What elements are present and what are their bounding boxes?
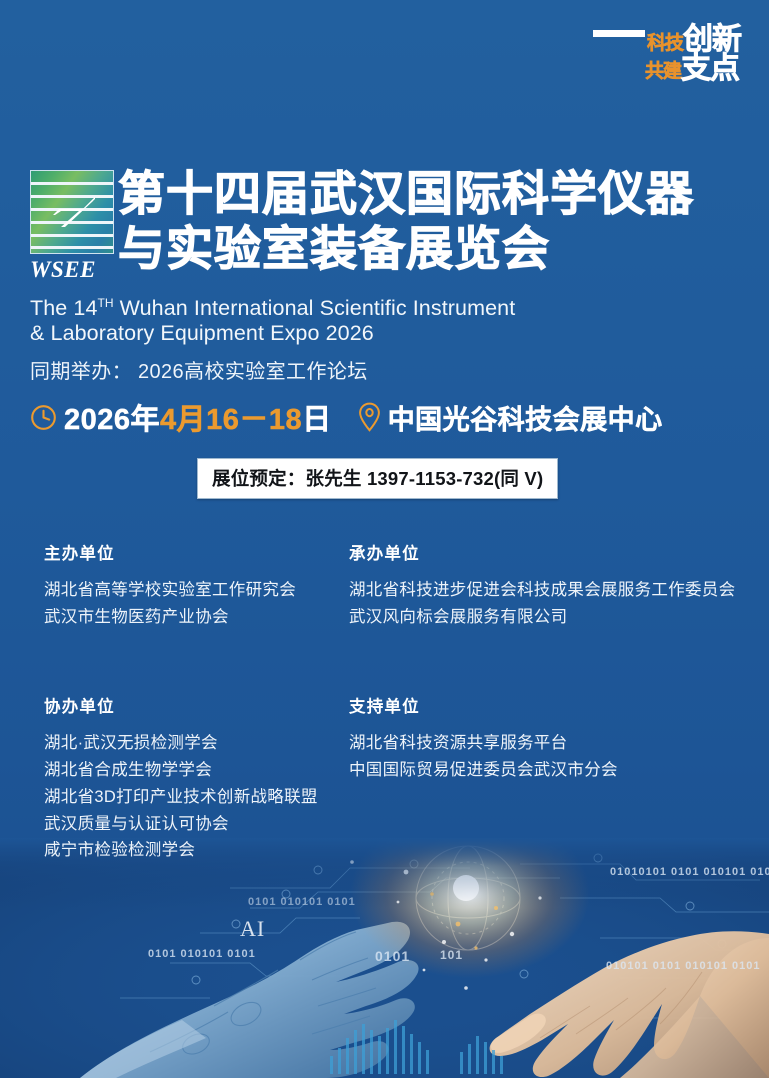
forum-line: 同期举办： 2026高校实验室工作论坛 [30, 355, 515, 384]
organizer-item: 湖北·武汉无损检测学会 [44, 730, 349, 757]
organizer-row-2: 协办单位 湖北·武汉无损检测学会 湖北省合成生物学学会 湖北省3D打印产业技术创… [44, 693, 744, 864]
english-line-1-b: Wuhan International Scientific Instrumen… [114, 296, 516, 320]
organizer-item: 武汉质量与认证认可协会 [44, 811, 349, 838]
poster-title: 第十四届武汉国际科学仪器 与实验室装备展览会 [118, 166, 694, 277]
booth-booking-box[interactable]: 展位预定：张先生 1397-1153-732(同 V) [197, 458, 558, 499]
binary-text: 0101 010101 0101 [248, 896, 356, 908]
slogan-line-2: 共建 支点 [593, 55, 739, 83]
organizer-item: 中国国际贸易促进委员会武汉市分会 [349, 757, 744, 784]
date-range: 4月16－18 [160, 396, 302, 438]
date-prefix: 2026年 [64, 396, 160, 438]
organizer-title: 主办单位 [44, 540, 349, 564]
organizer-item: 湖北省高等学校实验室工作研究会 [44, 577, 349, 604]
organizer-item: 湖北省科技进步促进会科技成果会展服务工作委员会 [349, 577, 744, 604]
slogan-gongjian: 共建 [645, 62, 681, 82]
binary-text: 101 [440, 948, 463, 962]
ai-watermark-label: AI [240, 916, 265, 942]
wsee-logo: WSEE [30, 170, 122, 283]
binary-text: 01010101 0101 010101 0101 [610, 866, 769, 878]
poster-canvas: 科技 创新 共建 支点 WSEE 第十四届武汉国际科学仪器 与实验室装备展览会 [0, 0, 769, 1078]
organizer-item: 湖北省合成生物学学会 [44, 757, 349, 784]
date-suffix: 日 [302, 396, 332, 438]
title-line-2: 与实验室装备展览会 [118, 221, 694, 276]
venue-item: 中国光谷科技会展中心 [358, 398, 663, 437]
binary-text: 0101 [375, 948, 410, 964]
organizer-group-host: 主办单位 湖北省高等学校实验室工作研究会 武汉市生物医药产业协会 [44, 540, 349, 630]
slogan-bar [593, 30, 645, 37]
date-item: 2026年 4月16－18 日 [30, 396, 332, 438]
clock-icon [30, 404, 57, 431]
english-ordinal-suffix: TH [98, 296, 114, 310]
english-line-2: & Laboratory Equipment Expo 2026 [30, 321, 515, 346]
slogan-kejis: 科技 [647, 34, 683, 54]
english-line-1-a: The 14 [30, 296, 98, 320]
logo-slash-icon [53, 197, 97, 227]
location-pin-icon [358, 402, 381, 432]
ai-hands-artwork: AI 0101 010101 0101 0101 101 01010101 01… [0, 838, 769, 1078]
slogan-zhidian: 支点 [681, 55, 739, 83]
organizer-group-undertaker: 承办单位 湖北省科技进步促进会科技成果会展服务工作委员会 武汉风向标会展服务有限… [349, 540, 744, 630]
organizer-row-1: 主办单位 湖北省高等学校实验室工作研究会 武汉市生物医药产业协会 承办单位 湖北… [44, 540, 744, 630]
title-line-1: 第十四届武汉国际科学仪器 [118, 166, 694, 221]
slogan-block: 科技 创新 共建 支点 [593, 26, 741, 82]
organizer-item: 武汉市生物医药产业协会 [44, 604, 349, 631]
organizer-item: 武汉风向标会展服务有限公司 [349, 604, 744, 631]
binary-text: 0101 010101 0101 [148, 948, 256, 960]
organizer-group-coorganizer: 协办单位 湖北·武汉无损检测学会 湖北省合成生物学学会 湖北省3D打印产业技术创… [44, 693, 349, 864]
slogan-chuangxin: 创新 [683, 26, 741, 54]
english-subtitle: The 14TH Wuhan International Scientific … [30, 296, 515, 384]
organizers-grid: 主办单位 湖北省高等学校实验室工作研究会 武汉市生物医药产业协会 承办单位 湖北… [44, 540, 744, 864]
booth-booking-text: 展位预定：张先生 1397-1153-732(同 V) [212, 468, 543, 489]
english-line-1: The 14TH Wuhan International Scientific … [30, 296, 515, 321]
date-venue-row: 2026年 4月16－18 日 中国光谷科技会展中心 [30, 396, 663, 438]
wsee-logo-text: WSEE [30, 257, 122, 283]
venue-name: 中国光谷科技会展中心 [388, 398, 663, 437]
organizer-item: 湖北省3D打印产业技术创新战略联盟 [44, 784, 349, 811]
organizer-title: 协办单位 [44, 693, 349, 717]
wsee-logo-mark [30, 170, 114, 254]
organizer-item: 咸宁市检验检测学会 [44, 837, 349, 864]
binary-text: 010101 0101 010101 0101 [606, 960, 761, 972]
organizer-group-supporter: 支持单位 湖北省科技资源共享服务平台 中国国际贸易促进委员会武汉市分会 [349, 693, 744, 864]
organizer-item: 湖北省科技资源共享服务平台 [349, 730, 744, 757]
organizer-title: 承办单位 [349, 540, 744, 564]
organizer-title: 支持单位 [349, 693, 744, 717]
slogan-line-1: 科技 创新 [593, 26, 741, 54]
